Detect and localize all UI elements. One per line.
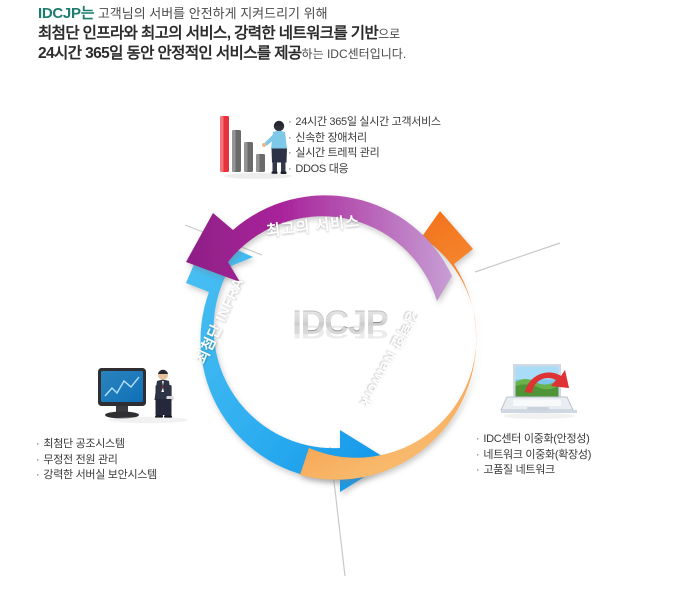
callout-infra-item: 강력한 서버실 보안시스템 <box>36 468 157 484</box>
callout-service-item: 실시간 트레픽 관리 <box>288 146 441 162</box>
bar-chart-person-icon <box>220 116 292 179</box>
desktop-monitor-businessman-icon <box>98 368 188 423</box>
callout-network-item: IDC센터 이중화(안정성) <box>476 432 591 448</box>
cycle-diagram: IDCJP IDCJP 최고의 서비스 최첨단 INFRA 강력한 Networ… <box>0 0 680 600</box>
connector-line-network <box>475 243 560 272</box>
callout-network-item: 네트워크 이중화(확장성) <box>476 448 591 464</box>
callout-service-item: 24시간 365일 실시간 고객서비스 <box>288 115 441 131</box>
callout-infra: 최첨단 공조시스템 무정전 전원 관리 강력한 서버실 보안시스템 <box>36 437 157 484</box>
callout-service-item: DDOS 대응 <box>288 162 441 178</box>
callout-infra-item: 무정전 전원 관리 <box>36 453 157 469</box>
callout-network-item: 고품질 네트워크 <box>476 463 591 479</box>
center-logo-reflection: IDCJP <box>280 322 400 341</box>
callout-network: IDC센터 이중화(안정성) 네트워크 이중화(확장성) 고품질 네트워크 <box>476 432 591 479</box>
laptop-arrow-icon <box>501 364 577 419</box>
callout-service: 24시간 365일 실시간 고객서비스 신속한 장애처리 실시간 트레픽 관리 … <box>288 115 441 177</box>
diagram-svg <box>0 0 680 600</box>
callout-service-item: 신속한 장애처리 <box>288 131 441 147</box>
callout-infra-item: 최첨단 공조시스템 <box>36 437 157 453</box>
